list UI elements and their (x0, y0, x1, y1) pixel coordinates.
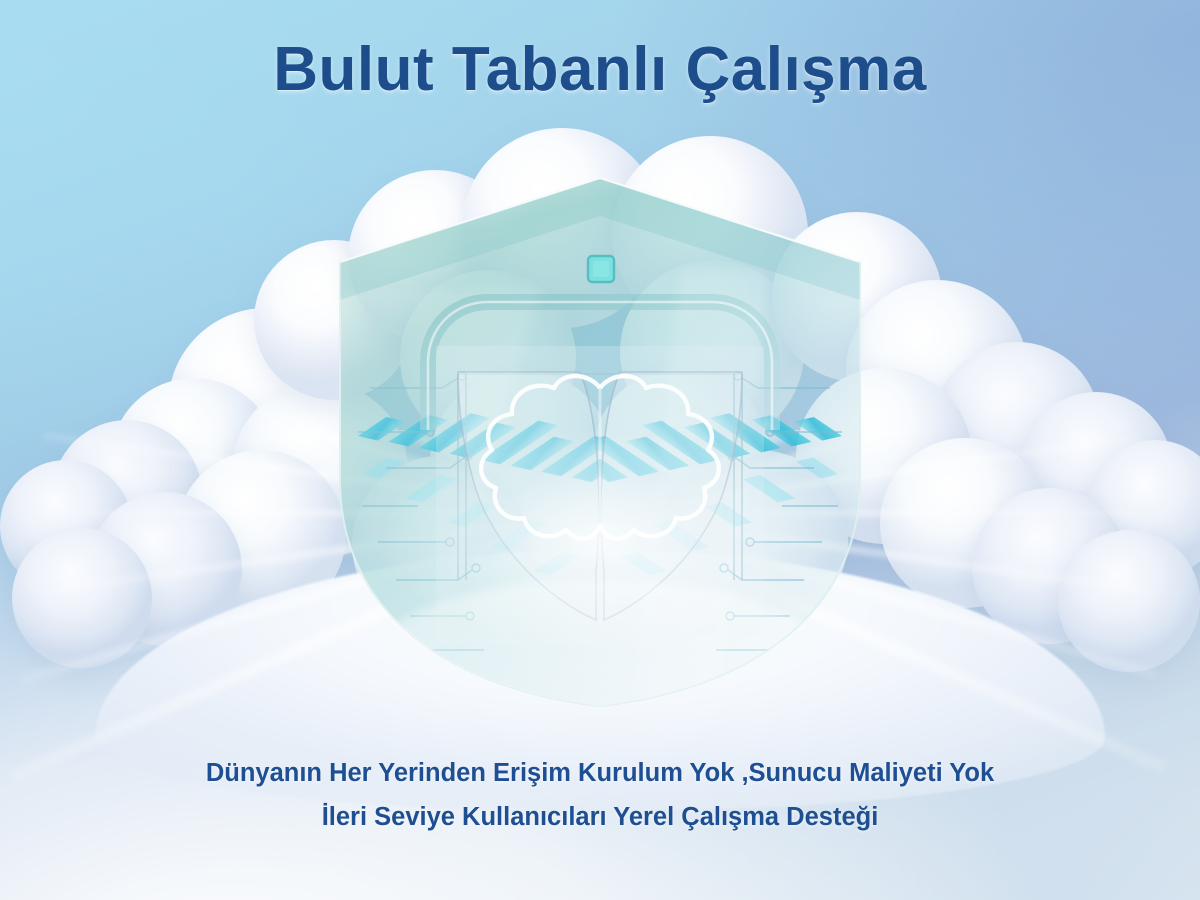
subtitle-block: Dünyanın Her Yerinden Erişim Kurulum Yok… (0, 752, 1200, 840)
base-glow (300, 420, 900, 720)
subtitle-line-2: İleri Seviye Kullanıcıları Yerel Çalışma… (0, 796, 1200, 840)
page-title: Bulut Tabanlı Çalışma (0, 34, 1200, 105)
accent-square (588, 256, 614, 282)
poster-canvas: Bulut Tabanlı Çalışma Dünyanın Her Yerin… (0, 0, 1200, 900)
subtitle-line-1: Dünyanın Her Yerinden Erişim Kurulum Yok… (0, 752, 1200, 796)
